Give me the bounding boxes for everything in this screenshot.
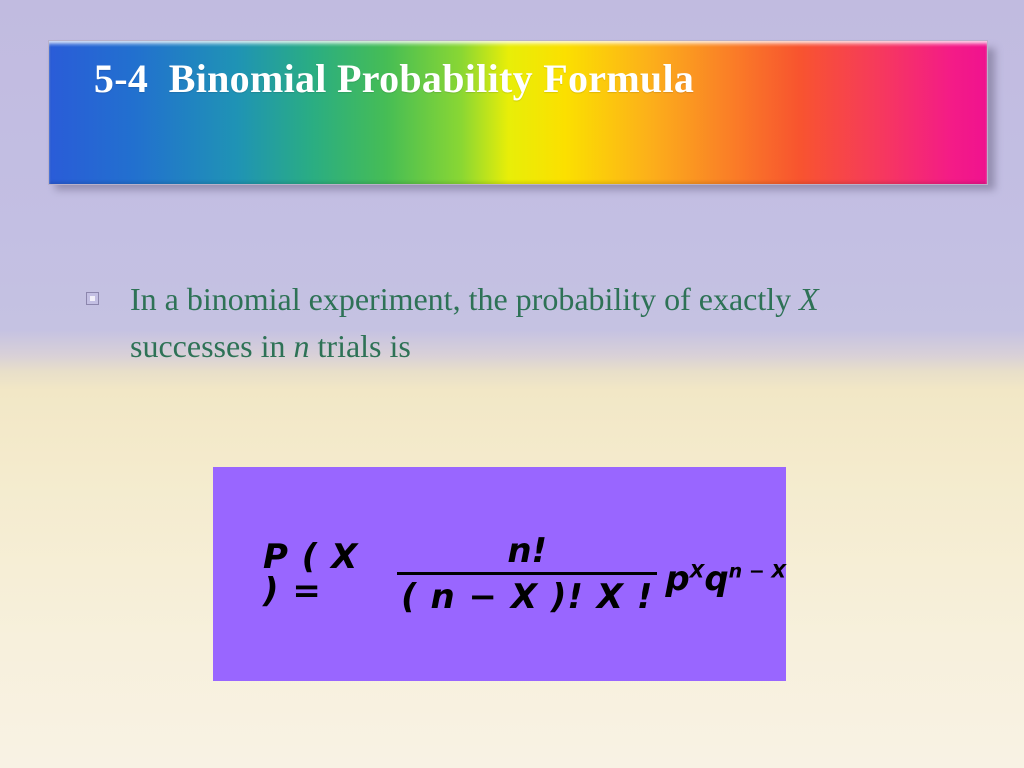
- bullet-text-part1: In a binomial experiment, the probabilit…: [130, 281, 799, 317]
- square-bullet-icon: [86, 292, 99, 305]
- formula-p-base: p: [665, 559, 689, 599]
- page-title: 5-4 Binomial Probability Formula: [63, 53, 977, 105]
- formula-box: P ( X ) = n! ( n − X )! X ! pXqn − X: [213, 467, 786, 681]
- formula-denominator: ( n − X )! X !: [397, 575, 657, 614]
- formula-fraction: n! ( n − X )! X !: [397, 534, 657, 614]
- slide-canvas: 5-4 Binomial Probability Formula In a bi…: [0, 0, 1024, 768]
- formula-q-exponent: n − X: [729, 561, 786, 583]
- bullet-list-item: In a binomial experiment, the probabilit…: [86, 276, 946, 370]
- formula-left-hand-side: P ( X ) =: [263, 540, 387, 608]
- formula-q-base: q: [704, 559, 728, 599]
- bullet-text-part2: successes in: [130, 328, 294, 364]
- formula-power-terms: pXqn − X: [665, 562, 786, 596]
- title-bar: 5-4 Binomial Probability Formula: [48, 40, 988, 185]
- bullet-text-part3: trials is: [310, 328, 411, 364]
- bullet-variable-n: n: [294, 328, 310, 364]
- bullet-item-label: In a binomial experiment, the probabilit…: [130, 276, 920, 370]
- bullet-variable-x: X: [799, 281, 819, 317]
- formula-numerator: n!: [497, 534, 557, 572]
- binomial-probability-formula: P ( X ) = n! ( n − X )! X ! pXqn − X: [263, 534, 786, 614]
- title-bar-gloss: [49, 41, 987, 47]
- formula-p-exponent: X: [690, 561, 705, 583]
